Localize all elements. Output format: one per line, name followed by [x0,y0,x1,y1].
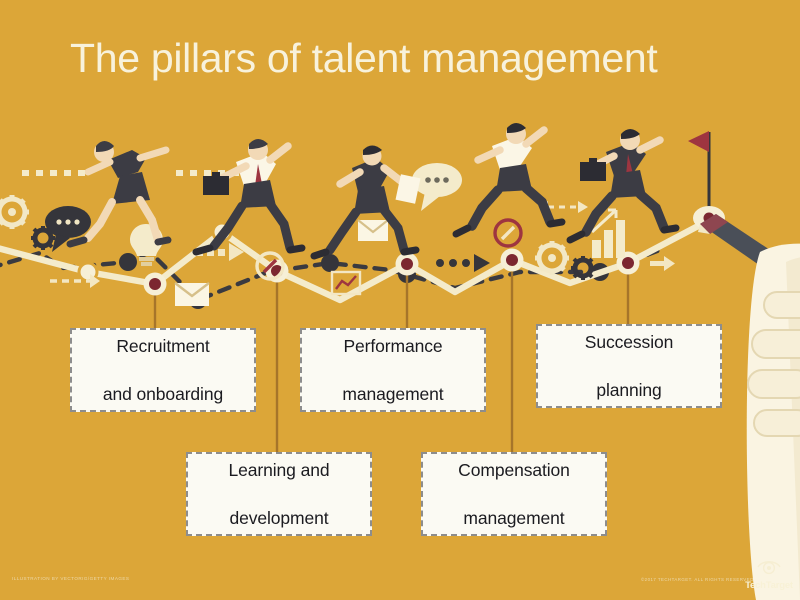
runner-businessman [196,139,302,252]
envelope-icon [175,283,209,306]
techtarget-wordmark: TechTarget [742,580,796,591]
illustration [0,0,800,600]
pillar-box-compensation-management[interactable]: Compensation management [421,452,607,536]
pillar-label-line2: planning [579,378,680,402]
speech-bubble-icon [412,163,462,211]
pillar-label-line2: development [223,506,336,530]
eye-target-icon [757,558,781,575]
infographic-canvas: The pillars of talent management [0,0,800,600]
flag-icon [688,131,725,230]
arrow-right-icon [650,256,675,271]
envelope-icon [358,220,388,241]
dots-arrow-icon [436,254,490,272]
pillar-label-line2: management [452,506,576,530]
pillar-label-line2: and onboarding [97,382,229,406]
pillar-label-line1: Performance [336,334,449,358]
techtarget-logo[interactable]: TechTarget [742,558,796,592]
runner-businessman [456,123,562,234]
pillar-box-performance-management[interactable]: Performance management [300,328,486,412]
pillar-label-line1: Learning and [223,458,336,482]
copyright-notice: ©2017 TechTarget. All rights reserved [641,577,754,582]
pillar-box-learning-and-development[interactable]: Learning and development [186,452,372,536]
illustration-credit: Illustration by Vectorig/Getty Images [12,576,129,581]
pillar-box-recruitment-and-onboarding[interactable]: Recruitment and onboarding [70,328,256,412]
compass-icon [495,220,521,246]
pillar-box-succession-planning[interactable]: Succession planning [536,324,722,408]
pillar-label-line1: Recruitment [97,334,229,358]
pillar-label-line2: management [336,382,449,406]
pillar-label-line1: Compensation [452,458,576,482]
dashed-arrow-icon [50,274,100,288]
pillar-label-line1: Succession [579,330,680,354]
